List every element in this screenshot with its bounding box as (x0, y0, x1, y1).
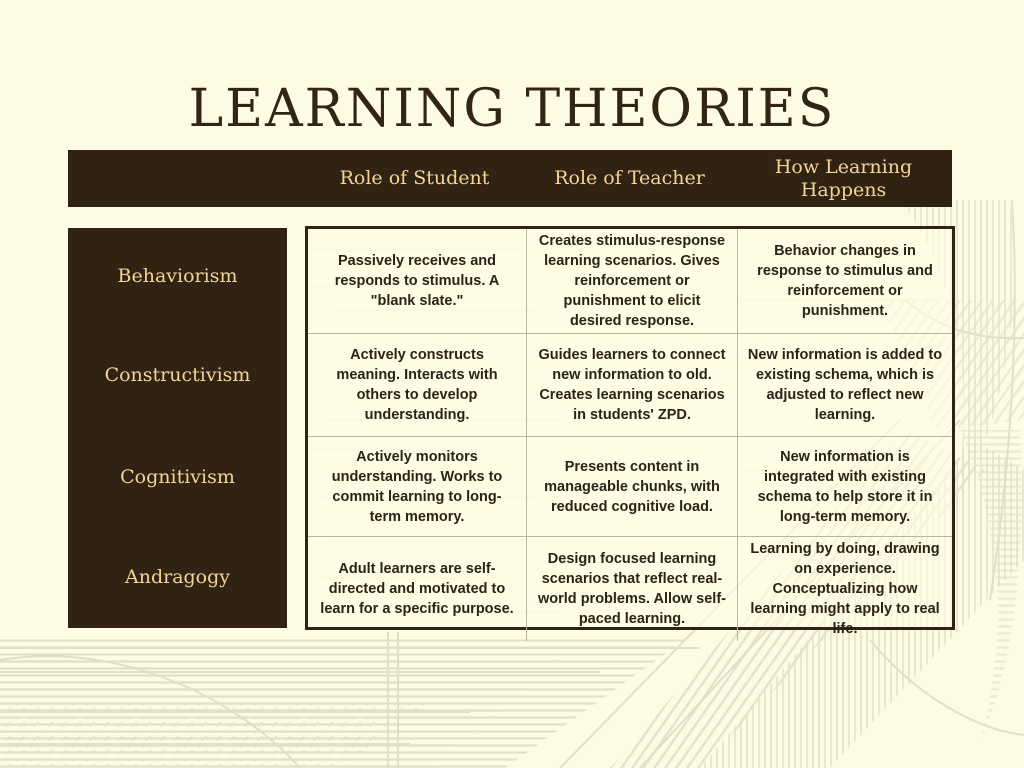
cell-text: Design focused learning scenarios that r… (536, 549, 728, 629)
column-header-role-of-student: Role of Student (305, 167, 524, 190)
cell-andragogy-student: Adult learners are self-directed and mot… (308, 537, 527, 641)
table-row: Passively receives and responds to stimu… (308, 229, 952, 334)
theory-label-andragogy: Andragogy (68, 527, 287, 628)
cell-text: New information is integrated with exist… (747, 447, 943, 527)
cell-behaviorism-teacher: Creates stimulus-response learning scena… (527, 229, 738, 333)
cell-text: Adult learners are self-directed and mot… (317, 559, 517, 619)
cell-andragogy-teacher: Design focused learning scenarios that r… (527, 537, 738, 641)
cell-text: Behavior changes in response to stimulus… (747, 241, 943, 321)
cell-behaviorism-happens: Behavior changes in response to stimulus… (738, 229, 952, 333)
cell-constructivism-happens: New information is added to existing sch… (738, 334, 952, 436)
cell-behaviorism-student: Passively receives and responds to stimu… (308, 229, 527, 333)
column-header-role-of-teacher: Role of Teacher (524, 167, 735, 190)
cell-text: Learning by doing, drawing on experience… (747, 539, 943, 639)
table-row: Adult learners are self-directed and mot… (308, 537, 952, 641)
theory-sidebar: Behaviorism Constructivism Cognitivism A… (68, 228, 287, 628)
cell-cognitivism-student: Actively monitors understanding. Works t… (308, 437, 527, 536)
cell-text: Actively monitors understanding. Works t… (317, 447, 517, 527)
table-row: Actively constructs meaning. Interacts w… (308, 334, 952, 437)
cell-text: Presents content in manageable chunks, w… (536, 457, 728, 517)
theory-label-behaviorism: Behaviorism (68, 228, 287, 324)
table-header-bar: Role of Student Role of Teacher How Lear… (68, 150, 952, 207)
header-corner-spacer (68, 150, 305, 207)
column-header-how-learning-happens: How Learning Happens (735, 156, 952, 202)
cell-andragogy-happens: Learning by doing, drawing on experience… (738, 537, 952, 641)
theory-label-constructivism: Constructivism (68, 324, 287, 427)
table-row: Actively monitors understanding. Works t… (308, 437, 952, 537)
page-title: LEARNING THEORIES (0, 79, 1024, 139)
learning-theories-table: Passively receives and responds to stimu… (305, 226, 955, 630)
cell-cognitivism-teacher: Presents content in manageable chunks, w… (527, 437, 738, 536)
theory-label-cognitivism: Cognitivism (68, 427, 287, 527)
slide-canvas: LEARNING THEORIES Role of Student Role o… (0, 0, 1024, 768)
cell-constructivism-teacher: Guides learners to connect new informati… (527, 334, 738, 436)
cell-cognitivism-happens: New information is integrated with exist… (738, 437, 952, 536)
cell-text: Creates stimulus-response learning scena… (536, 231, 728, 331)
cell-text: Guides learners to connect new informati… (536, 345, 728, 425)
cell-text: Actively constructs meaning. Interacts w… (317, 345, 517, 425)
cell-text: New information is added to existing sch… (747, 345, 943, 425)
cell-constructivism-student: Actively constructs meaning. Interacts w… (308, 334, 527, 436)
cell-text: Passively receives and responds to stimu… (317, 251, 517, 311)
